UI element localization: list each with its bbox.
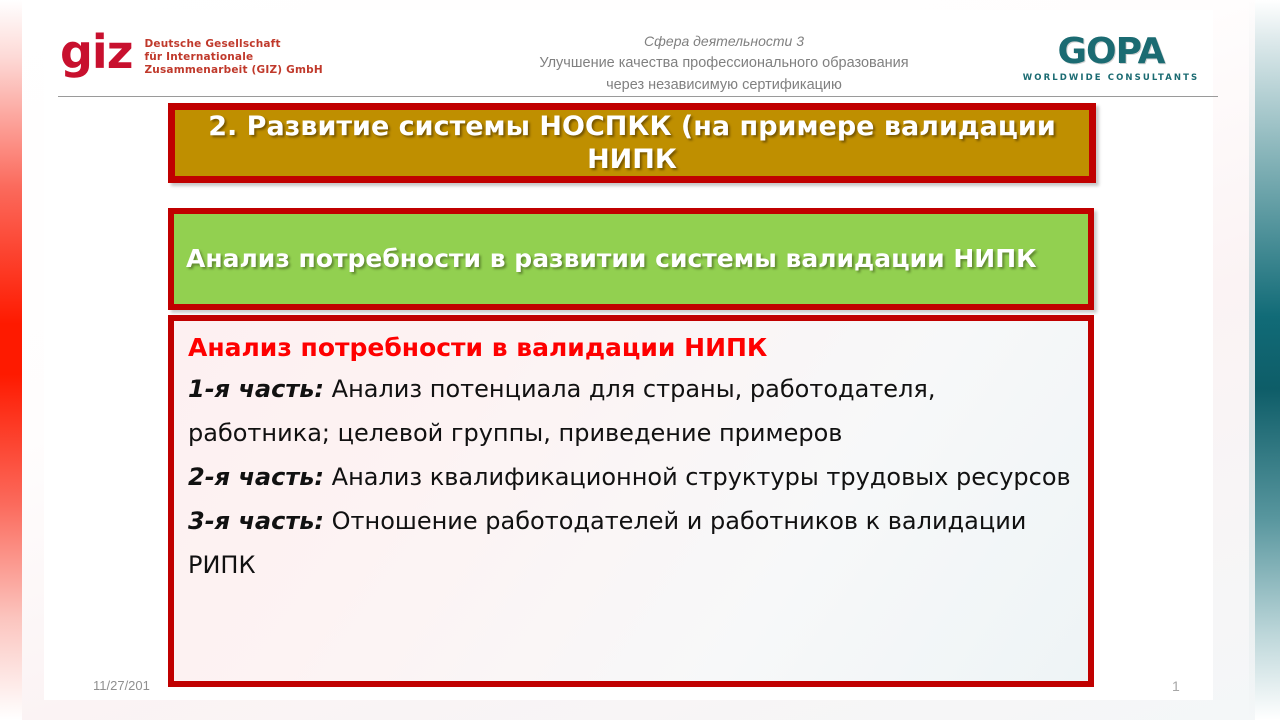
slide: giz Deutsche Gesellschaft für Internatio… (0, 0, 1280, 720)
header-title-line-2: Улучшение качества профессионального обр… (444, 52, 1004, 74)
content-paragraph-lead: 2-я часть: (188, 463, 324, 491)
content-paragraph: 3-я часть: Отношение работодателей и раб… (188, 499, 1074, 587)
section-title-text: 2. Развитие системы НОСПКК (на примере в… (175, 110, 1089, 176)
content-paragraph: 1-я часть: Анализ потенциала для страны,… (188, 367, 1074, 455)
content-paragraph-lead: 1-я часть: (188, 375, 324, 403)
header-title-line-1: Сфера деятельности 3 (444, 30, 1004, 52)
gopa-logo-subtitle: WORLDWIDE CONSULTANTS (1016, 73, 1206, 83)
header-title-line-3: через независимую сертификацию (444, 74, 1004, 96)
giz-logo-mark: giz (60, 32, 144, 72)
left-red-gradient-bar (0, 0, 22, 720)
footer-page-number: 1 (1172, 678, 1180, 694)
right-teal-gradient-bar (1255, 0, 1280, 720)
content-paragraph-lead: 3-я часть: (188, 507, 324, 535)
header-divider-rule (58, 96, 1218, 97)
giz-logo-text: Deutsche Gesellschaft für Internationale… (144, 32, 322, 77)
content-paragraph-body: Анализ квалификационной структуры трудов… (324, 463, 1071, 491)
content-paragraph: 2-я часть: Анализ квалификационной струк… (188, 455, 1074, 499)
gopa-logo: GOPA WORLDWIDE CONSULTANTS (1016, 34, 1206, 83)
giz-logo-line-2: für Internationale (144, 51, 322, 64)
gopa-logo-mark: GOPA (1016, 34, 1206, 70)
giz-logo: giz Deutsche Gesellschaft für Internatio… (60, 32, 323, 77)
content-heading: Анализ потребности в валидации НИПК (188, 329, 1074, 367)
giz-logo-line-1: Deutsche Gesellschaft (144, 38, 322, 51)
slide-header: giz Deutsche Gesellschaft für Internatio… (44, 14, 1224, 98)
giz-logo-line-3: Zusammenarbeit (GIZ) GmbH (144, 64, 322, 77)
subsection-green-box: Анализ потребности в развитии системы ва… (168, 208, 1094, 310)
subsection-green-text: Анализ потребности в развитии системы ва… (174, 242, 1037, 276)
header-center-title: Сфера деятельности 3 Улучшение качества … (444, 30, 1004, 96)
content-box: Анализ потребности в валидации НИПК 1-я … (168, 315, 1094, 687)
footer-date: 11/27/201 (93, 678, 150, 693)
section-title-box: 2. Развитие системы НОСПКК (на примере в… (168, 103, 1096, 183)
